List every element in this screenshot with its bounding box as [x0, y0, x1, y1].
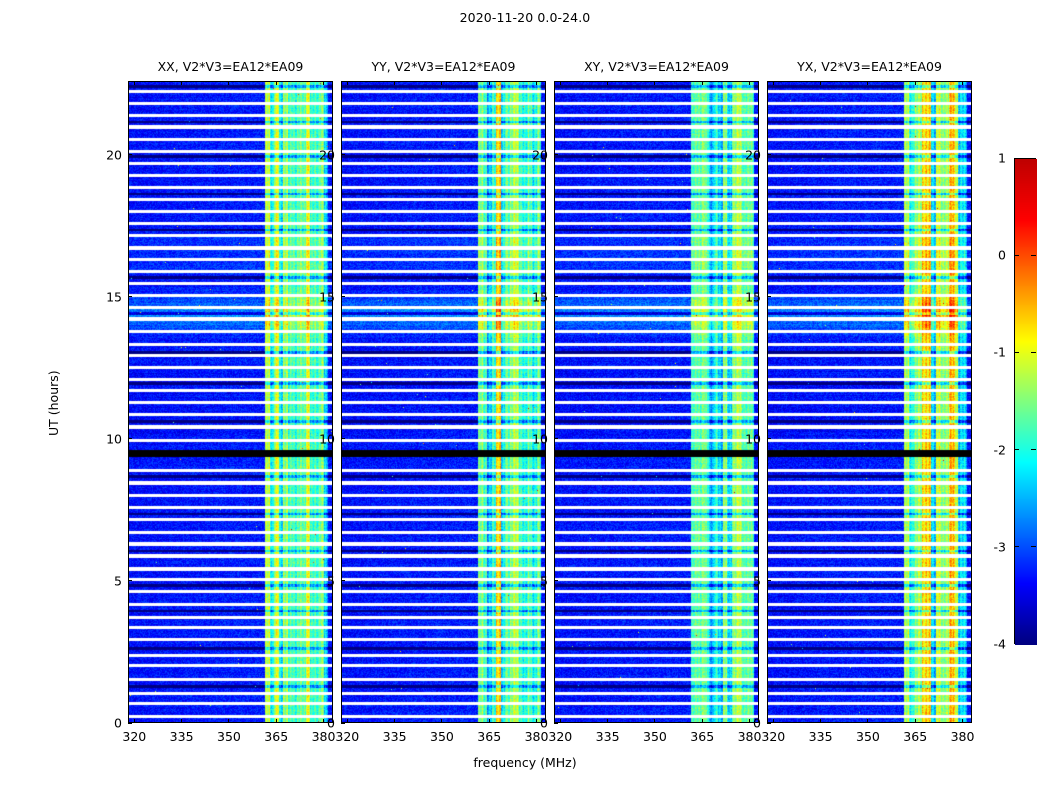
y-tick-label: 15	[299, 289, 335, 304]
x-tick-mark	[134, 719, 135, 723]
x-tick-label: 320	[761, 729, 785, 744]
x-tick-mark	[773, 719, 774, 723]
y-tick-label: 0	[86, 716, 122, 731]
colorbar-tick-label: 1	[974, 151, 1006, 166]
y-tick-label: 20	[512, 147, 548, 162]
x-tick-mark-top	[560, 81, 561, 85]
y-axis-label: UT (hours)	[46, 370, 61, 436]
y-tick-mark	[128, 154, 132, 155]
x-tick-label: 335	[383, 729, 407, 744]
y-tick-label: 15	[512, 289, 548, 304]
x-tick-label: 380	[525, 729, 549, 744]
y-tick-mark	[767, 154, 771, 155]
x-tick-mark-top	[347, 81, 348, 85]
panel-title-xx: XX, V2*V3=EA12*EA09	[158, 59, 304, 74]
y-tick-label: 10	[725, 431, 761, 446]
x-tick-mark	[702, 719, 703, 723]
colorbar-tick-mark-right	[1031, 449, 1036, 450]
x-tick-label: 335	[596, 729, 620, 744]
y-tick-label: 0	[725, 716, 761, 731]
colorbar-tick-label: -2	[974, 442, 1006, 457]
x-tick-mark	[654, 719, 655, 723]
y-tick-mark	[128, 580, 132, 581]
figure-title: 2020-11-20 0.0-24.0	[0, 10, 1050, 25]
x-tick-mark	[347, 719, 348, 723]
panel-title-yx: YX, V2*V3=EA12*EA09	[797, 59, 942, 74]
y-tick-label: 5	[512, 573, 548, 588]
panel-frame	[341, 81, 546, 723]
colorbar-tick-label: -1	[974, 345, 1006, 360]
x-tick-mark-top	[489, 81, 490, 85]
x-tick-mark-top	[323, 81, 324, 85]
x-tick-mark-top	[702, 81, 703, 85]
colorbar-tick-mark-right	[1031, 352, 1036, 353]
y-tick-mark	[554, 296, 558, 297]
panel-frame	[554, 81, 759, 723]
x-tick-mark	[441, 719, 442, 723]
y-tick-mark	[341, 154, 345, 155]
y-tick-label: 20	[86, 147, 122, 162]
x-tick-mark	[607, 719, 608, 723]
colorbar-tick-mark	[1014, 449, 1019, 450]
y-tick-label: 10	[86, 431, 122, 446]
x-tick-mark	[560, 719, 561, 723]
x-tick-label: 320	[122, 729, 146, 744]
colorbar-tick-mark	[1014, 255, 1019, 256]
y-tick-mark	[554, 438, 558, 439]
spectrogram-panel-xx[interactable]: XX, V2*V3=EA12*EA09	[128, 81, 333, 723]
x-tick-label: 350	[430, 729, 454, 744]
x-tick-label: 380	[951, 729, 975, 744]
x-tick-mark-top	[276, 81, 277, 85]
x-tick-mark-top	[228, 81, 229, 85]
x-tick-mark-top	[749, 81, 750, 85]
y-tick-mark	[554, 580, 558, 581]
y-tick-mark	[341, 580, 345, 581]
colorbar-tick-label: -3	[974, 539, 1006, 554]
colorbar-tick-mark	[1014, 546, 1019, 547]
x-tick-mark	[181, 719, 182, 723]
y-tick-label: 0	[299, 716, 335, 731]
x-tick-mark-top	[536, 81, 537, 85]
spectrogram-panel-yx[interactable]: YX, V2*V3=EA12*EA09	[767, 81, 972, 723]
x-tick-mark-top	[820, 81, 821, 85]
x-tick-label: 320	[548, 729, 572, 744]
x-tick-label: 365	[903, 729, 927, 744]
y-tick-mark	[767, 438, 771, 439]
x-tick-mark-top	[773, 81, 774, 85]
y-tick-label: 15	[86, 289, 122, 304]
x-tick-label: 320	[335, 729, 359, 744]
x-tick-label: 350	[856, 729, 880, 744]
x-tick-label: 350	[217, 729, 241, 744]
spectrogram-panel-xy[interactable]: XY, V2*V3=EA12*EA09	[554, 81, 759, 723]
y-tick-mark	[341, 438, 345, 439]
panel-frame	[767, 81, 972, 723]
y-tick-mark	[128, 438, 132, 439]
x-tick-mark-top	[181, 81, 182, 85]
x-tick-label: 365	[264, 729, 288, 744]
x-axis-label: frequency (MHz)	[0, 755, 1050, 770]
colorbar-tick-mark	[1014, 352, 1019, 353]
x-tick-label: 350	[643, 729, 667, 744]
x-tick-label: 365	[477, 729, 501, 744]
x-tick-mark	[276, 719, 277, 723]
y-tick-mark	[341, 296, 345, 297]
x-tick-label: 380	[312, 729, 336, 744]
y-tick-label: 5	[725, 573, 761, 588]
colorbar-tick-label: -4	[974, 637, 1006, 652]
colorbar-tick-mark-right	[1031, 546, 1036, 547]
x-tick-mark	[962, 719, 963, 723]
x-tick-mark	[820, 719, 821, 723]
colorbar[interactable]	[1014, 158, 1036, 644]
y-tick-mark	[767, 580, 771, 581]
y-tick-label: 10	[299, 431, 335, 446]
y-tick-mark	[554, 723, 558, 724]
x-tick-label: 335	[809, 729, 833, 744]
x-tick-mark	[489, 719, 490, 723]
spectrogram-panel-yy[interactable]: YY, V2*V3=EA12*EA09	[341, 81, 546, 723]
x-tick-mark	[915, 719, 916, 723]
x-tick-mark-top	[134, 81, 135, 85]
colorbar-gradient	[1015, 159, 1037, 645]
y-tick-label: 5	[86, 573, 122, 588]
colorbar-tick-mark-right	[1031, 255, 1036, 256]
panel-title-yy: YY, V2*V3=EA12*EA09	[372, 59, 516, 74]
y-tick-label: 20	[299, 147, 335, 162]
y-tick-label: 20	[725, 147, 761, 162]
x-tick-mark-top	[915, 81, 916, 85]
panel-title-xy: XY, V2*V3=EA12*EA09	[584, 59, 729, 74]
x-tick-label: 335	[170, 729, 194, 744]
x-tick-mark-top	[654, 81, 655, 85]
x-tick-mark-top	[394, 81, 395, 85]
x-tick-mark-top	[607, 81, 608, 85]
panel-frame	[128, 81, 333, 723]
x-tick-label: 380	[738, 729, 762, 744]
colorbar-tick-label: 0	[974, 248, 1006, 263]
y-tick-label: 5	[299, 573, 335, 588]
y-tick-label: 0	[512, 716, 548, 731]
x-tick-mark-top	[867, 81, 868, 85]
y-tick-mark	[128, 296, 132, 297]
spectrogram-figure: 2020-11-20 0.0-24.0 XX, V2*V3=EA12*EA093…	[0, 0, 1050, 800]
x-tick-mark	[228, 719, 229, 723]
x-tick-mark-top	[962, 81, 963, 85]
y-tick-mark	[128, 723, 132, 724]
y-tick-mark	[767, 723, 771, 724]
y-tick-mark	[341, 723, 345, 724]
y-tick-label: 15	[725, 289, 761, 304]
y-tick-label: 10	[512, 431, 548, 446]
x-tick-mark	[394, 719, 395, 723]
x-tick-mark	[867, 719, 868, 723]
y-tick-mark	[767, 296, 771, 297]
x-tick-mark-top	[441, 81, 442, 85]
y-tick-mark	[554, 154, 558, 155]
x-tick-label: 365	[690, 729, 714, 744]
